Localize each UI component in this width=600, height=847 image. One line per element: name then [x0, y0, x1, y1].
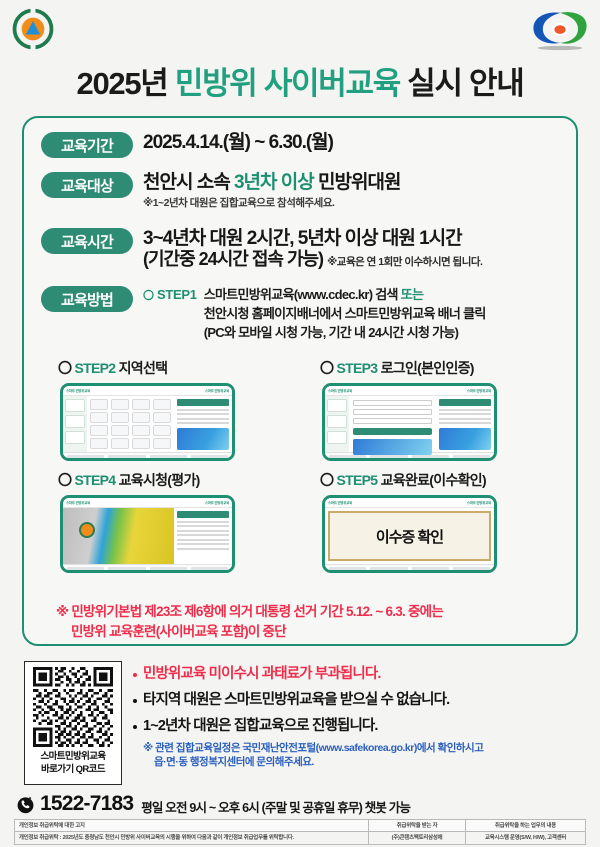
title-highlight: 민방위 사이버교육	[175, 66, 400, 101]
step1-line2: 천안시청 홈페이지배너에서 스마트민방위교육 배너 클릭	[204, 305, 486, 324]
step-row-1: 〇 STEP2 지역선택 스마트 민방위교육 스마트 민방위교육	[46, 358, 551, 461]
step4-mark: STEP4	[75, 472, 116, 488]
phone-icon	[16, 795, 35, 814]
step3-title: 로그인(본인인증)	[381, 360, 474, 376]
warning-line1: ※ 민방위기본법 제23조 제6항에 의거 대통령 선거 기간 5.12. ~ …	[56, 602, 556, 622]
step1-line1-highlight: 또는	[401, 287, 424, 302]
contact-number[interactable]: 1522-7183	[40, 792, 133, 816]
table-row-header: 개인정보 취급위탁에 대한 고지 취급위탁을 받는 자 취급위탁을 하는 업무의…	[15, 820, 586, 832]
step-cell-4: 〇 STEP4 교육시청(평가) 스마트 민방위교육 스마트 민방위교육	[46, 470, 286, 573]
step-thumbnail-grid: 〇 STEP2 지역선택 스마트 민방위교육 스마트 민방위교육	[46, 358, 551, 582]
step1-mark: 〇 STEP1	[143, 286, 197, 303]
shot-side	[174, 396, 232, 452]
bullet-item: 타지역 대원은 스마트민방위교육을 받으실 수 없습니다.	[133, 691, 588, 710]
warning-line2: 민방위 교육훈련(사이버교육 포함)이 중단	[56, 622, 556, 642]
step3-screenshot: 스마트 민방위교육 스마트 민방위교육	[322, 383, 497, 461]
bullet-dot-icon	[133, 699, 137, 703]
privacy-footer-table: 개인정보 취급위탁에 대한 고지 취급위탁을 받는 자 취급위탁을 하는 업무의…	[14, 819, 586, 845]
shot-side	[436, 396, 494, 452]
step-ring-icon: 〇	[320, 472, 333, 488]
shot-brand-right: 스마트 민방위교육	[467, 388, 491, 393]
step-cell-3: 〇 STEP3 로그인(본인인증) 스마트 민방위교육 스마트 민방위교육	[308, 358, 548, 461]
subnote-line1: ※ 관련 집합교육일정은 국민재난안전포털(www.safekorea.go.k…	[143, 742, 483, 754]
step4-screenshot: 스마트 민방위교육 스마트 민방위교육	[60, 495, 235, 573]
election-warning: ※ 민방위기본법 제23조 제6항에 의거 대통령 선거 기간 5.12. ~ …	[56, 602, 556, 643]
shot-login-form	[349, 396, 436, 452]
certificate-text: 이수증 확인	[376, 526, 443, 547]
shot-nav	[325, 396, 349, 452]
row-time: 교육시간 3~4년차 대원 2시간, 5년차 이상 대원 1시간 (기간중 24…	[41, 228, 566, 271]
shot-brand-left: 스마트 민방위교육	[328, 388, 352, 393]
page-title: 2025년 민방위 사이버교육 실시 안내	[0, 58, 600, 103]
row-method: 교육방법 〇 STEP1 스마트민방위교육(www.cdec.kr) 검색 또는…	[41, 286, 566, 343]
footer-cell-1: 개인정보 취급위탁 : 2025년도 충청남도 천안시 민방위 사이버교육의 시…	[15, 832, 369, 844]
label-time: 교육시간	[41, 228, 133, 254]
bullet-dot-icon	[133, 673, 137, 677]
target-highlight: 3년차 이상	[234, 172, 314, 193]
value-time-sub: (기간중 24시간 접속 가능) ※교육은 연 1회만 이수하시면 됩니다.	[143, 249, 482, 271]
bullet-item: 민방위교육 미이수시 과태료가 부과됩니다.	[133, 665, 588, 684]
footer-cell-2: (주)콘텐츠팩토리삼성애	[369, 832, 466, 844]
bullet-notes: 민방위교육 미이수시 과태료가 부과됩니다. 타지역 대원은 스마트민방위교육을…	[133, 665, 588, 770]
qr-code-box[interactable]: 스마트민방위교육 바로가기 QR코드	[24, 661, 122, 785]
shot-brand-left: 스마트 민방위교육	[328, 500, 352, 505]
step-ring-icon: 〇	[320, 360, 333, 376]
cheonan-city-logo-icon	[530, 8, 590, 52]
step-cell-5: 〇 STEP5 교육완료(이수확인) 스마트 민방위교육 스마트 민방위교육 이…	[308, 470, 548, 573]
target-post: 민방위대원	[314, 172, 401, 193]
title-part1: 2025년	[77, 66, 175, 101]
qr-caption-line2: 바로가기 QR코드	[40, 764, 105, 777]
step5-screenshot: 스마트 민방위교육 스마트 민방위교육 이수증 확인	[322, 495, 497, 573]
title-part2: 실시 안내	[400, 66, 524, 101]
step4-title: 교육시청(평가)	[119, 472, 200, 488]
step2-title: 지역선택	[119, 360, 168, 376]
collective-training-subnote: ※ 관련 집합교육일정은 국민재난안전포털(www.safekorea.go.k…	[143, 741, 588, 771]
shot-brand-right: 스마트 민방위교육	[205, 388, 229, 393]
contact-line: 1522-7183 평일 오전 9시 ~ 오후 6시 (주말 및 공휴일 휴무)…	[16, 792, 410, 816]
footer-header-1: 개인정보 취급위탁에 대한 고지	[15, 820, 369, 832]
row-period: 교육기간 2025.4.14.(월) ~ 6.30.(월)	[41, 132, 561, 158]
shot-brand-right: 스마트 민방위교육	[205, 500, 229, 505]
label-target: 교육대상	[41, 172, 133, 198]
step-ring-icon: 〇	[58, 360, 71, 376]
table-row: 개인정보 취급위탁 : 2025년도 충청남도 천안시 민방위 사이버교육의 시…	[15, 832, 586, 844]
qr-caption-line1: 스마트민방위교육	[40, 751, 105, 764]
shot-playlist	[174, 508, 232, 564]
label-period: 교육기간	[41, 132, 133, 158]
step4-head: 〇 STEP4 교육시청(평가)	[46, 470, 286, 490]
step3-head: 〇 STEP3 로그인(본인인증)	[308, 358, 548, 378]
bullet-item: 1~2년차 대원은 집합교육으로 진행됩니다.	[133, 717, 588, 736]
note-target: ※1~2년차 대원은 집합교육으로 참석해주세요.	[143, 195, 400, 210]
step5-title: 교육완료(이수확인)	[381, 472, 486, 488]
step5-head: 〇 STEP5 교육완료(이수확인)	[308, 470, 548, 490]
step5-mark: STEP5	[337, 472, 378, 488]
qr-code-icon[interactable]	[33, 667, 113, 747]
civil-defense-emblem-icon	[12, 8, 54, 50]
shot-brand-left: 스마트 민방위교육	[66, 500, 90, 505]
shot-region-grid	[87, 396, 174, 452]
value-time: 3~4년차 대원 2시간, 5년차 이상 대원 1시간	[143, 228, 482, 249]
step-ring-icon: 〇	[143, 290, 154, 302]
video-emblem-icon	[79, 522, 95, 538]
bullet-dot-icon	[133, 725, 137, 729]
step-ring-icon: 〇	[58, 472, 71, 488]
step3-mark: STEP3	[337, 360, 378, 376]
contact-hours: 평일 오전 9시 ~ 오후 6시 (주말 및 공휴일 휴무) 챗봇 가능	[141, 793, 410, 816]
step2-mark: STEP2	[75, 360, 116, 376]
bullet-text-3: 1~2년차 대원은 집합교육으로 진행됩니다.	[143, 717, 378, 736]
step1-label: STEP1	[157, 287, 197, 302]
value-period: 2025.4.14.(월) ~ 6.30.(월)	[143, 132, 333, 153]
footer-header-2: 취급위탁을 받는 자	[369, 820, 466, 832]
shot-nav	[63, 396, 87, 452]
time-sub-note: ※교육은 연 1회만 이수하시면 됩니다.	[327, 256, 482, 268]
step1-line1: 스마트민방위교육(www.cdec.kr) 검색 또는	[204, 286, 486, 305]
bullet-text-2: 타지역 대원은 스마트민방위교육을 받으실 수 없습니다.	[143, 691, 449, 710]
target-pre: 천안시 소속	[143, 172, 234, 193]
poster-root: 2025년 민방위 사이버교육 실시 안내 교육기간 2025.4.14.(월)…	[0, 0, 600, 847]
footer-cell-3: 교육시스템 운영(S/W, H/W), 고객센터	[466, 832, 586, 844]
shot-video-player	[63, 508, 174, 564]
step1-line1-pre: 스마트민방위교육(www.cdec.kr) 검색	[204, 287, 401, 302]
row-target: 교육대상 천안시 소속 3년차 이상 민방위대원 ※1~2년차 대원은 집합교육…	[41, 172, 561, 210]
bullet-text-1: 민방위교육 미이수시 과태료가 부과됩니다.	[143, 665, 381, 684]
info-panel: 교육기간 2025.4.14.(월) ~ 6.30.(월) 교육대상 천안시 소…	[22, 116, 578, 646]
shot-brand-left: 스마트 민방위교육	[66, 388, 90, 393]
subnote-line2: 읍·면·동 행정복지센터에 문의해주세요.	[143, 755, 588, 770]
value-target: 천안시 소속 3년차 이상 민방위대원	[143, 172, 400, 193]
shot-brand-right: 스마트 민방위교육	[467, 500, 491, 505]
step2-screenshot: 스마트 민방위교육 스마트 민방위교육	[60, 383, 235, 461]
step2-head: 〇 STEP2 지역선택	[46, 358, 286, 378]
qr-caption: 스마트민방위교육 바로가기 QR코드	[40, 751, 105, 776]
time-sub-main: (기간중 24시간 접속 가능)	[143, 249, 323, 269]
step-row-2: 〇 STEP4 교육시청(평가) 스마트 민방위교육 스마트 민방위교육	[46, 470, 551, 573]
footer-header-3: 취급위탁을 하는 업무의 내용	[466, 820, 586, 832]
step1-block: 〇 STEP1 스마트민방위교육(www.cdec.kr) 검색 또는 천안시청…	[143, 286, 486, 343]
label-method: 교육방법	[41, 286, 133, 312]
step-cell-2: 〇 STEP2 지역선택 스마트 민방위교육 스마트 민방위교육	[46, 358, 286, 461]
step1-line3: (PC와 모바일 시청 가능, 기간 내 24시간 시청 가능)	[204, 324, 486, 343]
shot-certificate: 이수증 확인	[328, 511, 491, 561]
